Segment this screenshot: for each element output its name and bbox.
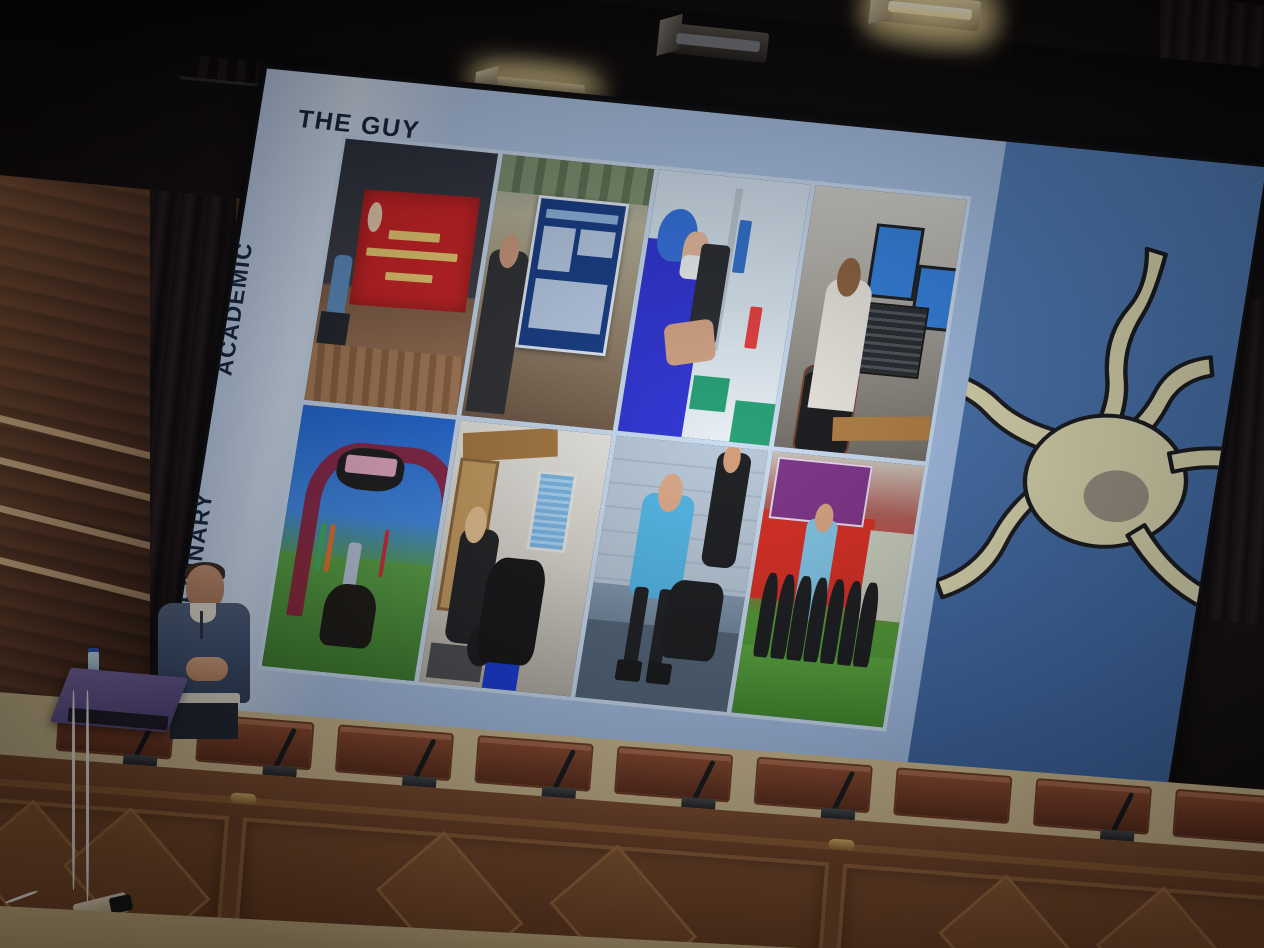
- presenter-collar: [190, 603, 216, 623]
- poster-column: [577, 229, 615, 259]
- poster-title: [545, 209, 618, 225]
- slide: THE GUY ACADEMIC VETERINARY: [166, 69, 1007, 779]
- desk-knob: [230, 792, 257, 805]
- banner-line-3: [385, 273, 432, 284]
- red-banner: [349, 190, 480, 314]
- presenter-hands: [186, 657, 228, 681]
- desk-knob: [828, 838, 855, 851]
- green-drape: [689, 375, 731, 413]
- chair: [1172, 789, 1264, 846]
- poster-column: [537, 225, 576, 272]
- chair: [893, 767, 1012, 824]
- cable: [86, 690, 89, 902]
- chair: [335, 724, 454, 781]
- chair: [1033, 778, 1152, 835]
- diamond-motif: [1096, 886, 1244, 948]
- chair: [614, 746, 733, 803]
- forearm: [664, 318, 717, 367]
- projection-screen: THE GUY ACADEMIC VETERINARY: [159, 62, 1264, 811]
- diamond-motif: [549, 844, 697, 948]
- shoe: [645, 662, 673, 685]
- roof-beam: [463, 428, 558, 462]
- chair: [474, 735, 593, 792]
- wood-floor: [305, 342, 466, 414]
- screen-surface: THE GUY ACADEMIC VETERINARY: [166, 69, 1264, 805]
- cable: [72, 690, 75, 890]
- photo-grid: [258, 134, 972, 731]
- auditorium-screenshot: THE GUY ACADEMIC VETERINARY: [0, 0, 1264, 948]
- shoe: [615, 659, 643, 682]
- label-academic: ACADEMIC: [210, 241, 258, 377]
- banner-line-2: [366, 248, 457, 263]
- banner-line-1: [388, 231, 440, 243]
- poster-column: [528, 278, 607, 335]
- diamond-motif: [938, 874, 1086, 948]
- bench-desk: [831, 417, 930, 441]
- university-logo: [366, 202, 384, 233]
- window-blind: [526, 470, 578, 553]
- lab-bottle: [744, 306, 763, 349]
- presenter-trousers: [170, 703, 238, 739]
- academic-poster: [515, 195, 630, 356]
- green-drape: [729, 400, 775, 446]
- chair: [754, 757, 873, 814]
- presenter-zip: [200, 611, 203, 639]
